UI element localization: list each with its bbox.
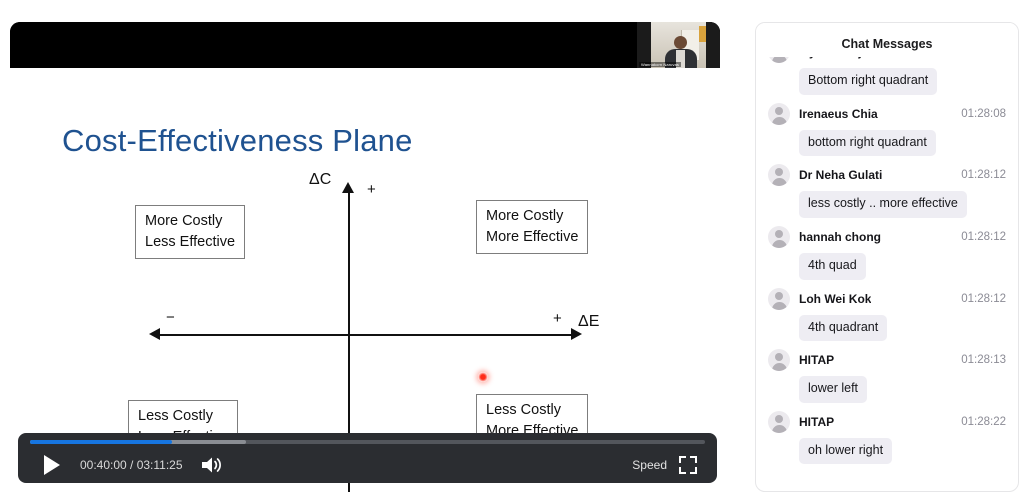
chat-message: Loh Wei Kok01:28:124th quadrant xyxy=(768,286,1006,342)
avatar-body xyxy=(772,240,787,248)
app-root: Cost-Effectiveness Plane More Costly Les… xyxy=(0,0,1024,503)
chat-message-header: Myka Sarajan01:28:07 xyxy=(768,57,1006,65)
chat-message-body-wrap: 4th quad xyxy=(768,250,1006,280)
controls-row: 00:40:00 / 03:11:25 Speed xyxy=(18,447,717,483)
progress-bar[interactable] xyxy=(30,439,705,444)
chat-message-timestamp: 01:28:08 xyxy=(955,108,1006,120)
chat-message-sender: Loh Wei Kok xyxy=(799,292,871,306)
avatar-body xyxy=(772,425,787,433)
axis-sign-top: + xyxy=(367,181,376,198)
chat-message-list[interactable]: Myka Sarajan01:28:07Bottom right quadran… xyxy=(756,57,1018,492)
avatar xyxy=(768,103,790,125)
avatar xyxy=(768,411,790,433)
avatar-head xyxy=(775,415,783,423)
chat-message-header: HITAP01:28:13 xyxy=(768,347,1006,373)
chat-panel-title: Chat Messages xyxy=(756,23,1018,57)
video-letterbox-top xyxy=(10,22,720,68)
avatar xyxy=(768,349,790,371)
y-axis-label: ΔC xyxy=(309,171,331,189)
chat-message: Irenaeus Chia01:28:08bottom right quadra… xyxy=(768,101,1006,157)
x-axis-label: ΔE xyxy=(578,313,599,331)
chat-message-body-wrap: 4th quadrant xyxy=(768,312,1006,342)
chat-message-text: 4th quadrant xyxy=(799,315,887,342)
chat-message-body-wrap: bottom right quadrant xyxy=(768,127,1006,157)
fullscreen-icon[interactable] xyxy=(679,456,697,474)
webcam-background-accent xyxy=(699,26,706,42)
chat-message-sender: Myka Sarajan xyxy=(799,57,876,59)
avatar-head xyxy=(775,292,783,300)
chat-message-text: 4th quad xyxy=(799,253,866,280)
chat-message-sender: hannah chong xyxy=(799,230,881,244)
play-triangle xyxy=(44,455,60,475)
chat-message-body-wrap: oh lower right xyxy=(768,435,1006,465)
chat-message-text: oh lower right xyxy=(799,438,892,465)
webcam-participant-name: Wannakorn Naruvas xyxy=(639,62,681,67)
time-display: 00:40:00 / 03:11:25 xyxy=(80,458,183,472)
avatar-body xyxy=(772,178,787,186)
chat-message-text: bottom right quadrant xyxy=(799,130,936,157)
quadrant-label-top-left: More Costly Less Effective xyxy=(135,205,245,259)
video-controls-bar: 00:40:00 / 03:11:25 Speed xyxy=(18,433,717,483)
chat-message: HITAP01:28:13lower left xyxy=(768,347,1006,403)
avatar-head xyxy=(775,230,783,238)
chat-message-timestamp: 01:28:13 xyxy=(955,354,1006,366)
avatar-body xyxy=(772,302,787,310)
chat-message-body-wrap: lower left xyxy=(768,373,1006,403)
chat-message-timestamp: 01:28:12 xyxy=(955,169,1006,181)
chat-message-sender: HITAP xyxy=(799,353,834,367)
chat-message-sender: Irenaeus Chia xyxy=(799,107,878,121)
avatar xyxy=(768,57,790,63)
avatar-head xyxy=(775,168,783,176)
chat-message-text: Bottom right quadrant xyxy=(799,68,937,95)
presentation-slide: Cost-Effectiveness Plane More Costly Les… xyxy=(10,68,720,492)
chat-message: Dr Neha Gulati01:28:12less costly .. mor… xyxy=(768,162,1006,218)
chat-message-header: Irenaeus Chia01:28:08 xyxy=(768,101,1006,127)
chat-message-text: lower left xyxy=(799,376,867,403)
chat-message-timestamp: 01:28:22 xyxy=(955,416,1006,428)
avatar xyxy=(768,288,790,310)
fullscreen-corner-tl xyxy=(679,456,686,463)
avatar-body xyxy=(772,363,787,371)
quadrant-top-left-text: More Costly Less Effective xyxy=(145,213,235,250)
volume-icon-svg xyxy=(199,454,225,476)
webcam-thumbnail[interactable]: Wannakorn Naruvas xyxy=(637,22,720,68)
webcam-person-head xyxy=(674,36,687,49)
avatar-body xyxy=(772,117,787,125)
avatar xyxy=(768,226,790,248)
avatar xyxy=(768,164,790,186)
horizontal-axis-line xyxy=(156,334,574,336)
avatar-head xyxy=(775,107,783,115)
video-player[interactable]: Cost-Effectiveness Plane More Costly Les… xyxy=(10,22,720,492)
axis-arrow-left-icon xyxy=(149,328,160,340)
chat-message-body-wrap: Bottom right quadrant xyxy=(768,65,1006,95)
volume-on-icon[interactable] xyxy=(199,454,225,476)
chat-message-header: Loh Wei Kok01:28:12 xyxy=(768,286,1006,312)
chat-message-timestamp: 01:28:12 xyxy=(955,231,1006,243)
chat-message-container: Myka Sarajan01:28:07Bottom right quadran… xyxy=(768,57,1006,464)
chat-message-header: hannah chong01:28:12 xyxy=(768,224,1006,250)
quadrant-label-top-right: More Costly More Effective xyxy=(476,200,588,254)
chat-message: hannah chong01:28:124th quad xyxy=(768,224,1006,280)
fullscreen-corner-br xyxy=(690,467,697,474)
chat-message-body-wrap: less costly .. more effective xyxy=(768,188,1006,218)
speed-button[interactable]: Speed xyxy=(632,458,667,472)
quadrant-top-right-text: More Costly More Effective xyxy=(486,208,578,245)
chat-message-sender: Dr Neha Gulati xyxy=(799,168,882,182)
axis-sign-right: + xyxy=(553,310,562,327)
laser-pointer-dot xyxy=(478,372,488,382)
chat-message-timestamp: 01:28:07 xyxy=(955,57,1006,58)
progress-played xyxy=(30,440,172,444)
axis-arrow-up-icon xyxy=(342,182,354,193)
chat-message: Myka Sarajan01:28:07Bottom right quadran… xyxy=(768,57,1006,95)
axis-sign-left: − xyxy=(166,309,175,326)
chat-message-text: less costly .. more effective xyxy=(799,191,967,218)
avatar-head xyxy=(775,353,783,361)
chat-message: HITAP01:28:22oh lower right xyxy=(768,409,1006,465)
chat-message-header: HITAP01:28:22 xyxy=(768,409,1006,435)
chat-message-header: Dr Neha Gulati01:28:12 xyxy=(768,162,1006,188)
play-icon[interactable] xyxy=(32,447,72,483)
avatar-body xyxy=(772,57,787,63)
slide-title: Cost-Effectiveness Plane xyxy=(62,123,413,159)
chat-panel: Chat Messages Myka Sarajan01:28:07Bottom… xyxy=(755,22,1019,492)
chat-message-sender: HITAP xyxy=(799,415,834,429)
fullscreen-corner-bl xyxy=(679,467,686,474)
fullscreen-corner-tr xyxy=(690,456,697,463)
chat-message-timestamp: 01:28:12 xyxy=(955,293,1006,305)
